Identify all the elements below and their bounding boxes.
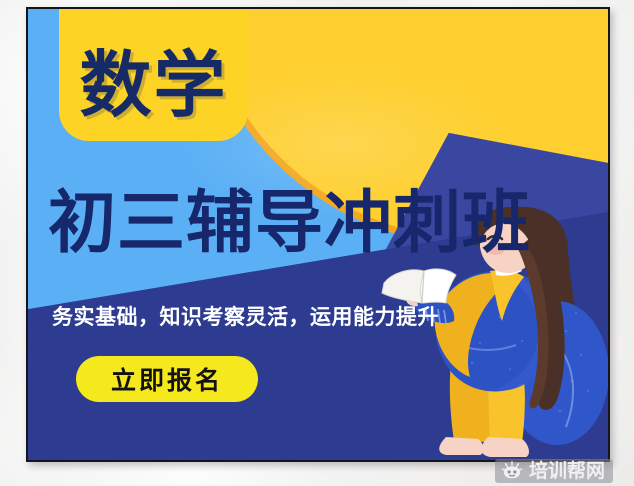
screenshot-stage: 数学 初三辅导冲刺班 务实基础，知识考察灵活，运用能力提升 立即报名 xyxy=(0,0,634,486)
banner-canvas: 数学 初三辅导冲刺班 务实基础，知识考察灵活，运用能力提升 立即报名 xyxy=(28,9,608,460)
course-promo-banner[interactable]: 数学 初三辅导冲刺班 务实基础，知识考察灵活，运用能力提升 立即报名 xyxy=(26,7,610,462)
watermark-label: 培训帮网 xyxy=(529,462,605,481)
site-watermark: 培训帮网 xyxy=(495,459,613,483)
subject-badge: 数学 xyxy=(59,9,248,141)
enroll-now-button[interactable]: 立即报名 xyxy=(76,356,258,402)
banner-headline: 初三辅导冲刺班 xyxy=(48,190,608,258)
left-foot-shape xyxy=(439,437,483,455)
right-foot-shape xyxy=(482,437,529,457)
book-left-page xyxy=(382,270,424,303)
banner-subtitle: 务实基础，知识考察灵活，运用能力提升 xyxy=(52,305,439,330)
subject-badge-label: 数学 xyxy=(79,49,227,121)
sun-face-icon xyxy=(501,461,523,481)
